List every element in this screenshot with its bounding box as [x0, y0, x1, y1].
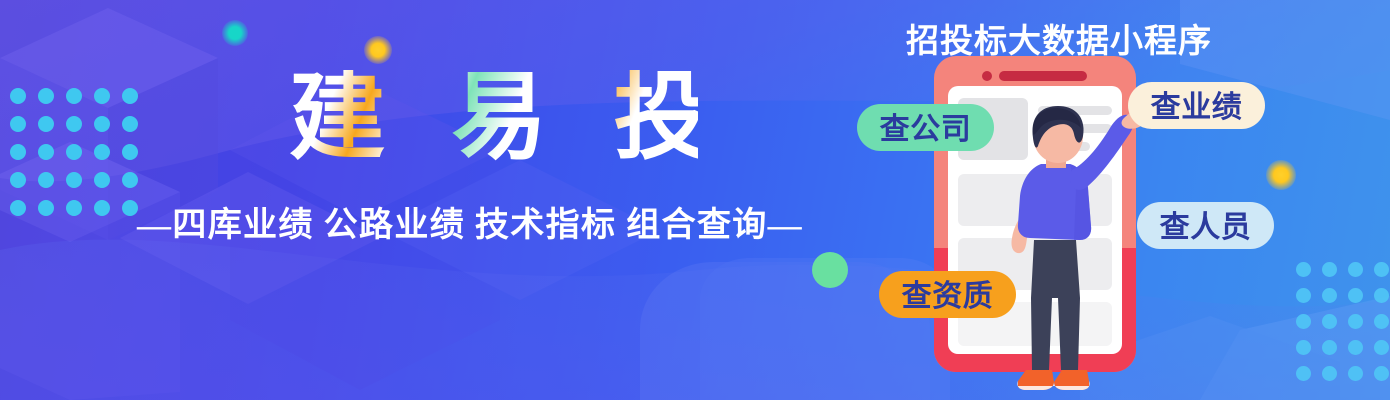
badge-query-personnel[interactable]: 查人员 [1137, 202, 1274, 249]
badge-query-qualification[interactable]: 查资质 [879, 271, 1016, 318]
page-title: 建 易 投 [268, 70, 698, 166]
badge-query-company[interactable]: 查公司 [857, 104, 994, 151]
page-subtitle: —四库业绩 公路业绩 技术指标 组合查询— [60, 206, 880, 247]
badge-query-performance[interactable]: 查业绩 [1128, 82, 1265, 129]
dot-grid-right [1296, 262, 1390, 392]
headline-zone: 建 易 投 —四库业绩 公路业绩 技术指标 组合查询— [0, 0, 880, 400]
promo-banner: 建 易 投 —四库业绩 公路业绩 技术指标 组合查询— 招投标大数据小程序 [0, 0, 1390, 400]
